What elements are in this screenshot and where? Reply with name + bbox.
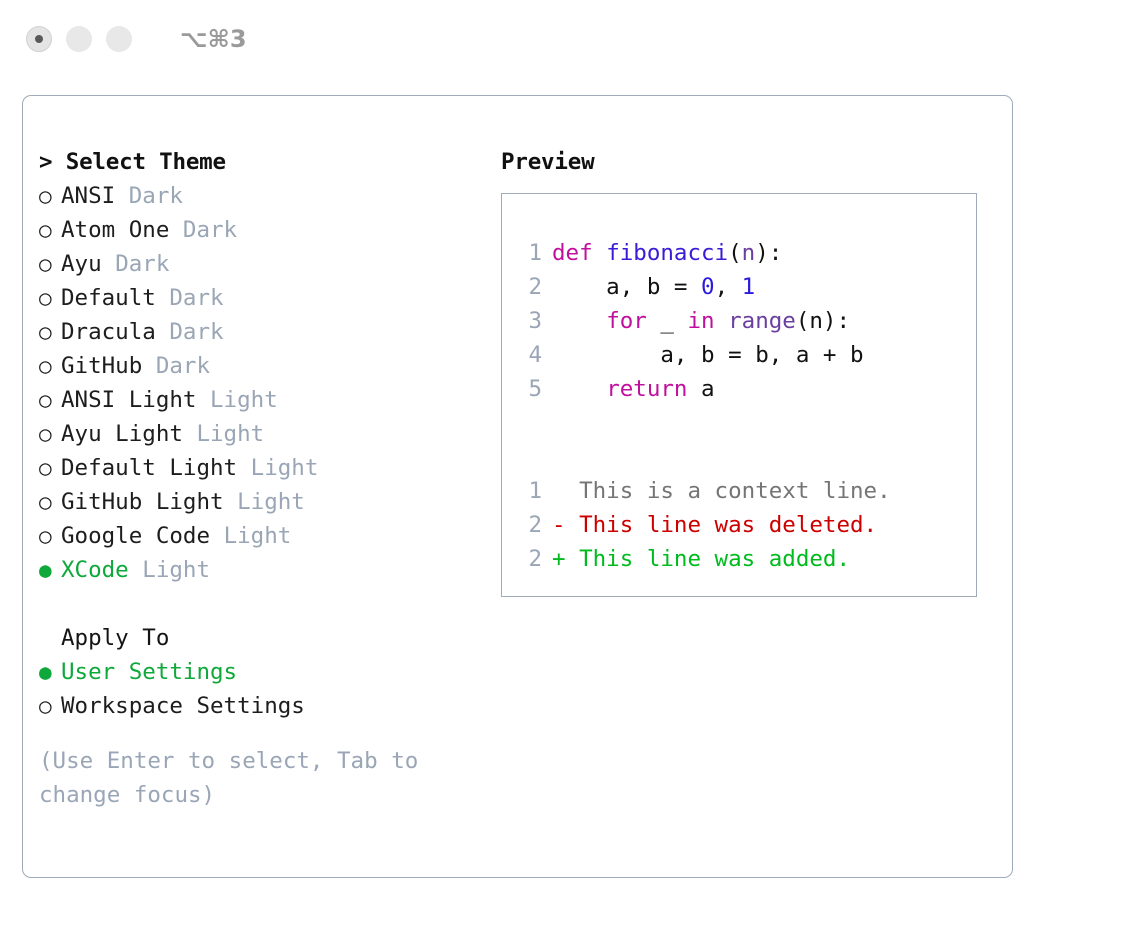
theme-option-label: XCode <box>61 557 129 583</box>
theme-option-tag: Dark <box>156 353 210 379</box>
preview-heading: Preview <box>501 145 1001 179</box>
code-line: 1def fibonacci(n): <box>516 236 976 270</box>
radio-unselected-icon: ○ <box>39 213 61 247</box>
diff-line-added: 2+ This line was added. <box>516 542 976 576</box>
apply-to-option-label: Workspace Settings <box>61 693 305 719</box>
window-dot-2-icon[interactable] <box>66 26 92 52</box>
theme-option-ansi-light[interactable]: ○ANSI Light Light <box>39 383 499 417</box>
radio-selected-icon: ● <box>39 553 61 587</box>
theme-picker-column: > Select Theme ○ANSI Dark ○Atom One Dark… <box>39 145 499 812</box>
code-token-plain: a, b = b, a + b <box>552 342 864 368</box>
code-token-plain <box>715 308 729 334</box>
window-controls <box>26 26 132 52</box>
apply-to-heading: Apply To <box>39 621 499 655</box>
radio-unselected-icon: ○ <box>39 451 61 485</box>
preview-code-box: 1def fibonacci(n): 2 a, b = 0, 1 3 for _… <box>501 193 977 597</box>
radio-unselected-icon: ○ <box>39 281 61 315</box>
code-token-keyword: in <box>687 308 714 334</box>
theme-option-label: Ayu <box>61 251 102 277</box>
keyboard-hint-text: (Use Enter to select, Tab to change focu… <box>39 744 439 812</box>
diff-line-deleted: 2- This line was deleted. <box>516 508 976 542</box>
theme-option-tag: Light <box>237 489 305 515</box>
code-token-plain <box>552 308 606 334</box>
diff-text: This line was added. <box>566 546 850 572</box>
radio-unselected-icon: ○ <box>39 417 61 451</box>
code-token-plain: a, b = <box>552 274 701 300</box>
select-theme-heading: > Select Theme <box>39 145 499 179</box>
radio-unselected-icon: ○ <box>39 519 61 553</box>
radio-selected-icon: ● <box>39 655 61 689</box>
diff-sign: - <box>552 512 566 538</box>
theme-option-ayu-light[interactable]: ○Ayu Light Light <box>39 417 499 451</box>
code-token-builtin: range <box>728 308 796 334</box>
theme-option-tag: Light <box>142 557 210 583</box>
code-token-plain: ): <box>755 240 782 266</box>
code-line: 4 a, b = b, a + b <box>516 338 976 372</box>
radio-unselected-icon: ○ <box>39 383 61 417</box>
radio-unselected-icon: ○ <box>39 247 61 281</box>
radio-unselected-icon: ○ <box>39 179 61 213</box>
code-line: 2 a, b = 0, 1 <box>516 270 976 304</box>
theme-option-tag: Dark <box>183 217 237 243</box>
theme-option-xcode[interactable]: ●XCode Light <box>39 553 499 587</box>
code-line: 3 for _ in range(n): <box>516 304 976 338</box>
preview-column: Preview 1def fibonacci(n): 2 a, b = 0, 1… <box>501 145 1001 597</box>
window-dot-1-inner <box>35 35 43 43</box>
theme-option-github-light[interactable]: ○GitHub Light Light <box>39 485 499 519</box>
theme-option-label: GitHub Light <box>61 489 224 515</box>
diff-text: This is a context line. <box>566 478 891 504</box>
theme-option-ayu[interactable]: ○Ayu Dark <box>39 247 499 281</box>
theme-option-label: GitHub <box>61 353 142 379</box>
code-token-plain: a <box>687 376 714 402</box>
code-token-plain <box>552 376 606 402</box>
main-panel: > Select Theme ○ANSI Dark ○Atom One Dark… <box>22 95 1013 878</box>
list-spacer <box>39 587 499 621</box>
code-token-plain: (n): <box>796 308 850 334</box>
theme-option-ansi[interactable]: ○ANSI Dark <box>39 179 499 213</box>
line-number: 1 <box>516 474 542 508</box>
theme-option-label: Dracula <box>61 319 156 345</box>
theme-option-dracula[interactable]: ○Dracula Dark <box>39 315 499 349</box>
theme-option-label: Atom One <box>61 217 169 243</box>
line-number: 3 <box>516 304 542 338</box>
theme-option-tag: Light <box>224 523 292 549</box>
theme-option-atom-one[interactable]: ○Atom One Dark <box>39 213 499 247</box>
line-number: 4 <box>516 338 542 372</box>
theme-option-tag: Dark <box>129 183 183 209</box>
code-token-number: 0 <box>701 274 715 300</box>
line-number: 5 <box>516 372 542 406</box>
apply-to-option-label: User Settings <box>61 659 237 685</box>
code-token-number: 1 <box>742 274 756 300</box>
theme-option-label: ANSI Light <box>61 387 196 413</box>
code-blank-line <box>516 440 976 474</box>
code-blank-line <box>516 406 976 440</box>
line-number: 2 <box>516 270 542 304</box>
theme-option-label: ANSI <box>61 183 115 209</box>
prompt-caret-icon: > <box>39 149 52 175</box>
code-token-plain: , <box>715 274 742 300</box>
diff-sign: + <box>552 546 566 572</box>
code-token-param: n <box>742 240 756 266</box>
radio-unselected-icon: ○ <box>39 315 61 349</box>
code-token-keyword: return <box>606 376 687 402</box>
code-token-keyword: for <box>606 308 647 334</box>
theme-option-label: Ayu Light <box>61 421 183 447</box>
diff-sign <box>552 478 566 504</box>
theme-option-label: Default <box>61 285 156 311</box>
window-dot-1-icon[interactable] <box>26 26 52 52</box>
theme-option-tag: Light <box>251 455 319 481</box>
line-number: 2 <box>516 508 542 542</box>
keyboard-shortcut-label: ⌥⌘3 <box>180 25 247 53</box>
code-line: 5 return a <box>516 372 976 406</box>
theme-option-default-light[interactable]: ○Default Light Light <box>39 451 499 485</box>
line-number: 1 <box>516 236 542 270</box>
code-token-plain: _ <box>647 308 688 334</box>
code-token-plain: ( <box>728 240 742 266</box>
theme-option-github[interactable]: ○GitHub Dark <box>39 349 499 383</box>
window-dot-3-icon[interactable] <box>106 26 132 52</box>
apply-to-option-workspace-settings[interactable]: ○Workspace Settings <box>39 689 499 723</box>
diff-line-context: 1 This is a context line. <box>516 474 976 508</box>
code-token-keyword: def <box>552 240 606 266</box>
radio-unselected-icon: ○ <box>39 485 61 519</box>
theme-option-label: Default Light <box>61 455 237 481</box>
theme-option-google-code[interactable]: ○Google Code Light <box>39 519 499 553</box>
radio-unselected-icon: ○ <box>39 689 61 723</box>
line-number: 2 <box>516 542 542 576</box>
select-theme-heading-label: Select Theme <box>66 149 226 175</box>
theme-option-tag: Light <box>196 421 264 447</box>
theme-option-tag: Dark <box>169 319 223 345</box>
theme-option-default[interactable]: ○Default Dark <box>39 281 499 315</box>
theme-option-tag: Dark <box>115 251 169 277</box>
theme-option-tag: Light <box>210 387 278 413</box>
diff-text: This line was deleted. <box>566 512 878 538</box>
apply-to-option-user-settings[interactable]: ●User Settings <box>39 655 499 689</box>
radio-unselected-icon: ○ <box>39 349 61 383</box>
window-titlebar: ⌥⌘3 <box>0 0 1140 78</box>
theme-option-tag: Dark <box>169 285 223 311</box>
code-token-function: fibonacci <box>606 240 728 266</box>
theme-option-label: Google Code <box>61 523 210 549</box>
